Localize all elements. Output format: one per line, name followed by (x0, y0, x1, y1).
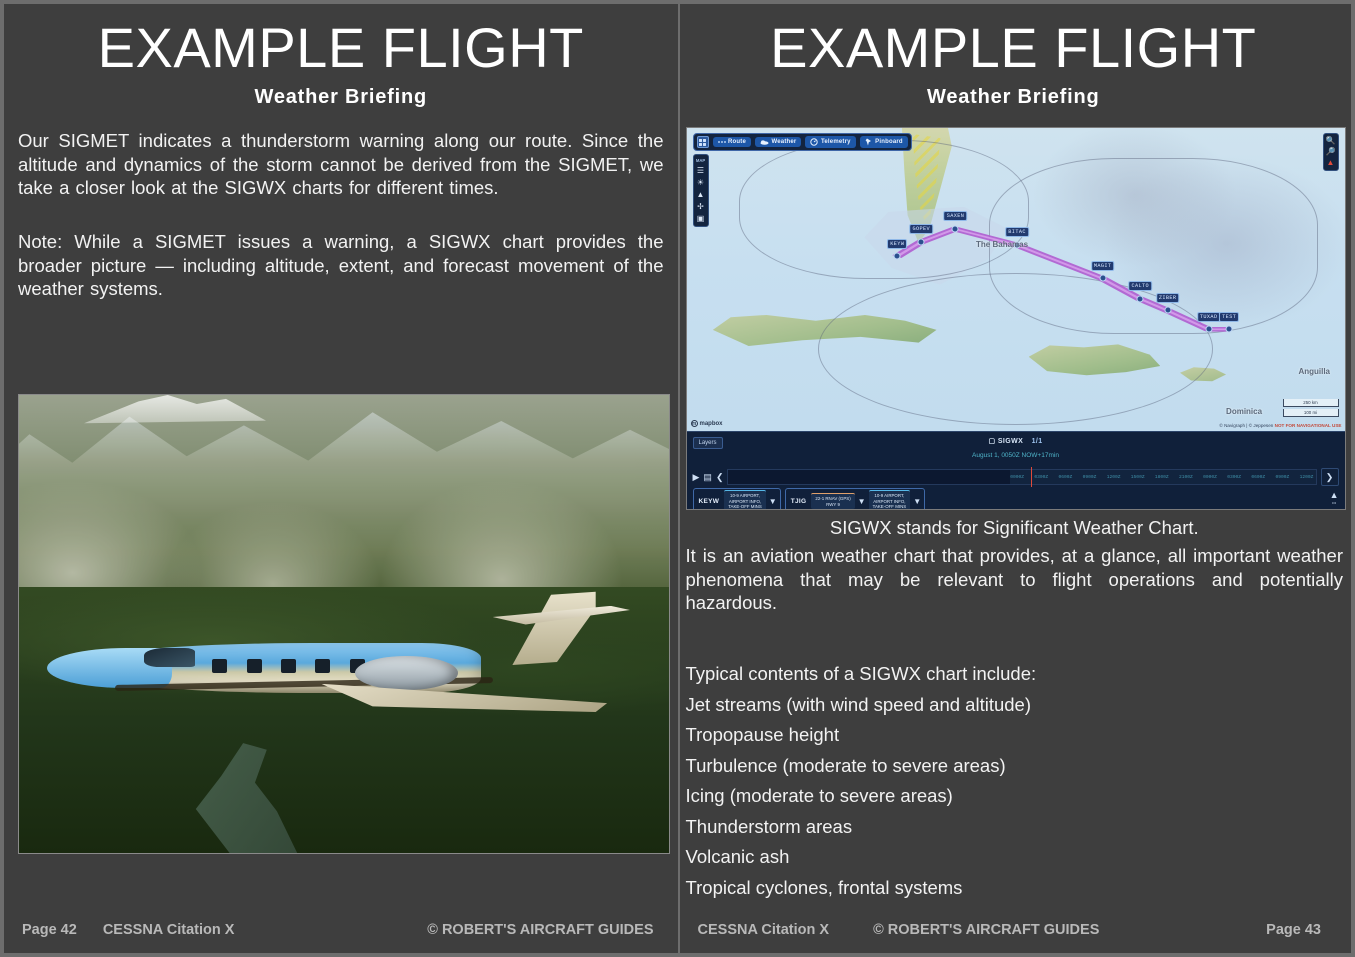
timeline-tick: 0900Z (1275, 475, 1289, 480)
timeline-tick: 0300Z (1227, 475, 1241, 480)
chart-card-line1: 10-9 AIRPORT, (873, 493, 907, 499)
timeline-tick: 0600Z (1058, 475, 1072, 480)
timeline-tick: 2100Z (1179, 475, 1193, 480)
waypoint-label-tuxad[interactable]: TUXAD (1197, 312, 1221, 322)
footer-aircraft-right: CESSNA Citation X (688, 922, 830, 938)
step-icon[interactable]: ▤ (703, 472, 712, 483)
product-name: SIGWX (998, 438, 1023, 445)
chart-card-tjig-rnav[interactable]: 22-1 RNAV (GPS) RWY 9 (811, 493, 854, 509)
grid-menu-icon[interactable] (697, 136, 709, 148)
list-lead: Typical contents of a SIGWX chart includ… (686, 659, 1344, 690)
timeline-tick: 1500Z (1131, 475, 1145, 480)
sigwx-contents-list: Typical contents of a SIGWX chart includ… (686, 659, 1344, 903)
timeline-tick: 1800Z (1155, 475, 1169, 480)
chart-group-keyw[interactable]: KEYW 10-9 AIRPORT, AIRPORT INFO, TAKE-OF… (693, 488, 781, 510)
waypoint-dot-calto[interactable] (1137, 295, 1144, 302)
toolbar-button-telemetry[interactable]: Telemetry (805, 136, 855, 148)
list-item: Turbulence (moderate to severe areas) (686, 751, 1344, 782)
geo-label-dominica: Dominica (1226, 407, 1262, 416)
zoom-out-icon[interactable]: 🔎 (1326, 148, 1336, 156)
aircraft-icon[interactable]: ▲ (697, 191, 705, 199)
map-side-rail[interactable]: MAP ☰ ☀ ▲ ✢ ▣ (693, 154, 709, 227)
list-item: Volcanic ash (686, 842, 1344, 873)
product-icon: ▢ (988, 438, 995, 445)
waypoint-label-test[interactable]: TEST (1219, 312, 1239, 322)
download-icon[interactable]: ▼ (858, 497, 866, 506)
waypoint-label-ziber[interactable]: ZIBER (1156, 293, 1180, 303)
list-item: Tropopause height (686, 720, 1344, 751)
navigraph-map-screenshot[interactable]: KEYWGOPEVSAXENBITACMAGITCALTOZIBERTUXADT… (686, 127, 1346, 510)
waypoint-dot-gopev[interactable] (918, 238, 925, 245)
toolbar-label-weather: Weather (772, 139, 797, 145)
chart-card-line3: TAKE-OFF MINS (728, 504, 762, 510)
mapbox-logo[interactable]: m mapbox (691, 420, 723, 427)
page-subtitle-right: Weather Briefing (684, 86, 1344, 109)
footer-page-number-left: Page 42 (22, 922, 77, 938)
timeline-tick: 0000Z (1203, 475, 1217, 480)
toolbar-label-telemetry: Telemetry (821, 139, 851, 145)
scale-bar-km: 250 km (1283, 399, 1339, 407)
gauge-icon (810, 138, 818, 146)
map-canvas[interactable]: KEYWGOPEVSAXENBITACMAGITCALTOZIBERTUXADT… (687, 128, 1345, 431)
list-item: Tropical cyclones, frontal systems (686, 873, 1344, 904)
waypoint-dot-keyw[interactable] (894, 253, 901, 260)
download-icon[interactable]: ▼ (769, 497, 777, 506)
mapbox-label: mapbox (700, 421, 723, 427)
zoom-in-icon[interactable]: 🔍 (1326, 137, 1336, 145)
footer-right: CESSNA Citation X © ROBERT'S AIRCRAFT GU… (678, 907, 1352, 953)
photo-aircraft (58, 597, 630, 753)
footer-copyright-left: © ROBERT'S AIRCRAFT GUIDES (427, 922, 677, 938)
compass-icon[interactable]: ▲ (1327, 159, 1335, 167)
play-icon[interactable]: ▶ (693, 472, 700, 483)
timeline-row[interactable]: ▶ ▤ ❮ 0000Z0300Z0600Z0900Z1200Z1500Z1800… (687, 466, 1345, 488)
left-paragraph-1: Our SIGMET indicates a thunderstorm warn… (18, 129, 664, 200)
chart-card-keyw-109[interactable]: 10-9 AIRPORT, AIRPORT INFO, TAKE-OFF MIN… (724, 490, 766, 510)
toolbar-button-pinboard[interactable]: Pinboard (860, 136, 908, 148)
page-subtitle-left: Weather Briefing (18, 86, 664, 109)
footer-aircraft-left: CESSNA Citation X (103, 922, 235, 938)
footer-copyright-right: © ROBERT'S AIRCRAFT GUIDES (829, 922, 1099, 938)
toolbar-label-route: Route (728, 139, 746, 145)
right-column: EXAMPLE FLIGHT Weather Briefing (678, 4, 1352, 953)
list-item: Jet streams (with wind speed and altitud… (686, 690, 1344, 721)
waypoint-label-saxen[interactable]: SAXEN (944, 211, 968, 221)
waypoint-dot-test[interactable] (1226, 326, 1233, 333)
map-toolbar[interactable]: Route Weather Telemetry Pinboard (693, 133, 912, 151)
left-column: EXAMPLE FLIGHT Weather Briefing Our SIGM… (4, 4, 678, 953)
timeline-ticks: 0000Z0300Z0600Z0900Z1200Z1500Z1800Z2100Z… (1010, 470, 1313, 484)
sigwx-caption: SIGWX stands for Significant Weather Cha… (688, 517, 1342, 539)
product-timestamp: August 1, 0050Z NOW+17min (687, 452, 1345, 459)
chart-airport-tjig: TJIG (789, 498, 809, 505)
waypoint-label-calto[interactable]: CALTO (1128, 281, 1152, 291)
timeline-tick: 0600Z (1251, 475, 1265, 480)
timeline-tick: 0900Z (1083, 475, 1097, 480)
aircraft-photo (18, 394, 670, 854)
waypoint-dot-tuxad[interactable] (1205, 326, 1212, 333)
page-title-left: EXAMPLE FLIGHT (18, 20, 664, 76)
brightness-icon[interactable]: ☀ (697, 179, 704, 187)
map-attribution-text: © Navigraph | © Jeppesen (1219, 423, 1273, 428)
timeline-tick: 1200Z (1107, 475, 1121, 480)
route-polyline (890, 213, 1232, 358)
left-paragraph-2: Note: While a SIGMET issues a warning, a… (18, 230, 664, 301)
chart-image-icon[interactable]: ▣ (697, 215, 705, 223)
map-scale: 250 km 100 mi (1283, 399, 1339, 417)
waypoint-label-bitac[interactable]: BITAC (1005, 227, 1029, 237)
footer-left: Page 42 CESSNA Citation X © ROBERT'S AIR… (4, 907, 678, 953)
scale-bar-mi: 100 mi (1283, 409, 1339, 417)
waypoint-dot-magit[interactable] (1099, 275, 1106, 282)
toolbar-button-weather[interactable]: Weather (755, 137, 801, 147)
timeline-track[interactable]: 0000Z0300Z0600Z0900Z1200Z1500Z1800Z2100Z… (727, 469, 1316, 485)
map-attribution: © Navigraph | © Jeppesen NOT FOR NAVIGAT… (1219, 423, 1341, 428)
product-page: 1/1 (1032, 438, 1043, 445)
list-item: Thunderstorm areas (686, 812, 1344, 843)
cloud-icon (760, 139, 769, 145)
move-icon[interactable]: ✢ (697, 203, 704, 211)
chevron-left-icon[interactable]: ❮ (716, 472, 724, 483)
home-icon[interactable]: ▲••• (1330, 490, 1339, 505)
timeline-tick: 0000Z (1010, 475, 1024, 480)
geo-label-the-bahamas: The Bahamas (976, 240, 1028, 249)
slide-page: EXAMPLE FLIGHT Weather Briefing Our SIGM… (0, 0, 1355, 957)
toolbar-button-route[interactable]: Route (713, 137, 752, 147)
chart-card-line3: TAKE-OFF MINS (873, 504, 907, 510)
mapbox-mark-icon: m (691, 420, 698, 427)
chart-card-line1: 22-1 RNAV (GPS) (815, 496, 850, 502)
chart-tabs-row[interactable]: KEYW 10-9 AIRPORT, AIRPORT INFO, TAKE-OF… (693, 490, 1339, 510)
timeline-now-marker[interactable] (1031, 467, 1033, 487)
chart-group-tjig[interactable]: TJIG 22-1 RNAV (GPS) RWY 9 ▼ 10-9 AIRPOR… (785, 488, 925, 510)
geo-label-anguilla: Anguilla (1298, 367, 1330, 376)
chart-card-line1: 10-9 AIRPORT, (728, 493, 762, 499)
flight-route-overlay[interactable] (890, 213, 1232, 358)
waypoint-label-gopev[interactable]: GOPEV (909, 224, 933, 234)
route-icon (718, 139, 726, 145)
page-title-right: EXAMPLE FLIGHT (684, 20, 1344, 76)
chevron-right-icon[interactable]: ❯ (1321, 468, 1339, 486)
timeline-tick: 1200Z (1300, 475, 1314, 480)
map-rail-label: MAP (696, 158, 705, 163)
product-header: ▢ SIGWX 1/1 (687, 437, 1345, 445)
map-zoom-controls[interactable]: 🔍 🔎 ▲ (1323, 133, 1339, 171)
map-attribution-warning: NOT FOR NAVIGATIONAL USE (1275, 423, 1342, 428)
map-bottom-panel[interactable]: Layers ▢ SIGWX 1/1 August 1, 0050Z NOW+1… (687, 431, 1345, 509)
pin-icon (865, 138, 873, 146)
chart-airport-keyw: KEYW (697, 498, 722, 505)
waypoint-label-keyw[interactable]: KEYW (887, 239, 907, 249)
footer-page-number-right: Page 43 (1266, 922, 1351, 938)
chart-card-line2: RWY 9 (815, 502, 850, 508)
waypoint-dot-saxen[interactable] (952, 225, 959, 232)
toolbar-label-pinboard: Pinboard (875, 139, 903, 145)
timeline-tick: 0300Z (1034, 475, 1048, 480)
layers-icon[interactable]: ☰ (697, 167, 704, 175)
right-paragraph: It is an aviation weather chart that pro… (686, 544, 1344, 615)
chart-card-tjig-109[interactable]: 10-9 AIRPORT, AIRPORT INFO, TAKE-OFF MIN… (869, 490, 911, 510)
list-item: Icing (moderate to severe areas) (686, 781, 1344, 812)
waypoint-label-magit[interactable]: MAGIT (1091, 261, 1115, 271)
download-icon[interactable]: ▼ (913, 497, 921, 506)
waypoint-dot-ziber[interactable] (1164, 307, 1171, 314)
